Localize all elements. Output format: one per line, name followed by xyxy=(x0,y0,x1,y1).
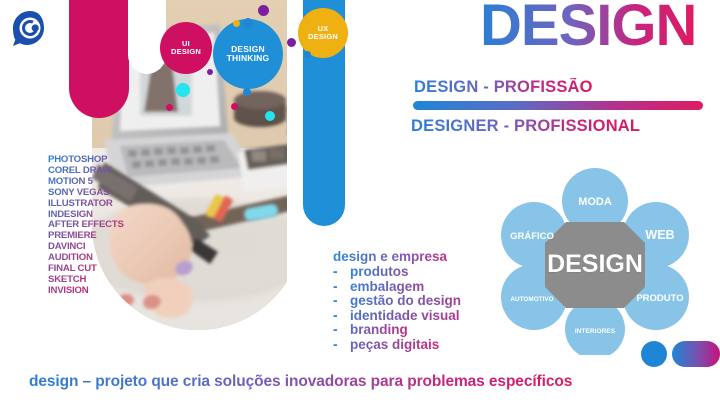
petal-label-produto: PRODUTO xyxy=(636,293,683,304)
bullets-title: design e empresa xyxy=(333,249,461,264)
bullet-label: peças digitais xyxy=(350,337,439,352)
petal-label-grafico: GRÁFICO xyxy=(510,231,554,242)
bullet-label: produtos xyxy=(350,264,409,279)
accent-dot xyxy=(243,18,253,28)
page-title: DESIGN xyxy=(480,0,696,56)
bullets-list: -produtos-embalagem-gestão do design-ide… xyxy=(333,265,461,353)
software-list-item: ILLUSTRATOR xyxy=(48,199,124,210)
header-line-profissao: DESIGN - PROFISSÃO xyxy=(414,78,593,97)
bullet-label: identidade visual xyxy=(350,308,460,323)
petal-label-interiores: INTERIORES xyxy=(575,328,616,335)
petal-label-moda: MODA xyxy=(578,196,612,208)
accent-dot xyxy=(233,20,240,27)
software-list-item: INVISION xyxy=(48,286,124,297)
bullet-label: gestão do design xyxy=(350,293,461,308)
bubble-design-thinking-label: DESIGNTHINKING xyxy=(227,45,270,63)
accent-dot xyxy=(287,38,296,47)
bubble-ui-design-label: UIDESIGN xyxy=(171,40,201,56)
bullet-marker: - xyxy=(333,323,350,338)
accent-dot xyxy=(243,88,251,96)
header-line-profissional: DESIGNER - PROFISSIONAL xyxy=(411,117,640,136)
white-bar xyxy=(128,0,166,74)
accent-dot xyxy=(258,5,269,16)
bullet-label: branding xyxy=(350,322,408,337)
slide-caption: design – projeto que cria soluções inova… xyxy=(29,373,572,391)
chat-bubble-logo xyxy=(8,8,52,52)
bullet-item: -gestão do design xyxy=(333,294,461,309)
bubble-ui-design[interactable]: UIDESIGN xyxy=(160,22,212,74)
bullet-marker: - xyxy=(333,280,350,295)
design-company-block: design e empresa -produtos-embalagem-ges… xyxy=(333,249,461,353)
diagram-center-label: DESIGN xyxy=(547,250,643,278)
magenta-bar xyxy=(69,0,129,118)
decor-pill xyxy=(672,341,720,367)
accent-dot xyxy=(207,69,213,75)
bullet-item: -branding xyxy=(333,323,461,338)
petal-label-web: WEB xyxy=(645,228,674,242)
bullet-marker: - xyxy=(333,294,350,309)
software-skill-list: PHOTOSHOPCOREL DRAWMOTION 5SONY VEGASILL… xyxy=(8,155,124,297)
accent-dot xyxy=(166,104,173,111)
bullet-item: -identidade visual xyxy=(333,309,461,324)
bullet-item: -peças digitais xyxy=(333,338,461,353)
accent-dot xyxy=(231,103,238,110)
decor-circle xyxy=(641,341,667,367)
slide-canvas: UIDESIGN DESIGNTHINKING UXDESIGN PHOTOSH… xyxy=(0,0,720,405)
bullet-item: -embalagem xyxy=(333,280,461,295)
header-divider xyxy=(413,101,703,110)
design-fields-diagram: DESIGN MODA WEB PRODUTO INTERIORES AUTOM… xyxy=(488,165,703,355)
accent-dot xyxy=(304,51,311,58)
bullet-marker: - xyxy=(333,338,350,353)
bullet-marker: - xyxy=(333,265,350,280)
accent-dot xyxy=(176,83,190,97)
software-list-item: SONY VEGAS xyxy=(48,188,124,199)
bubble-design-thinking[interactable]: DESIGNTHINKING xyxy=(213,19,283,89)
petal-label-automotivo: AUTOMOTIVO xyxy=(510,296,553,303)
bubble-ux-design-label: UXDESIGN xyxy=(308,25,338,41)
bullet-marker: - xyxy=(333,309,350,324)
bullet-label: embalagem xyxy=(350,279,424,294)
bullet-item: -produtos xyxy=(333,265,461,280)
accent-dot xyxy=(265,111,275,121)
